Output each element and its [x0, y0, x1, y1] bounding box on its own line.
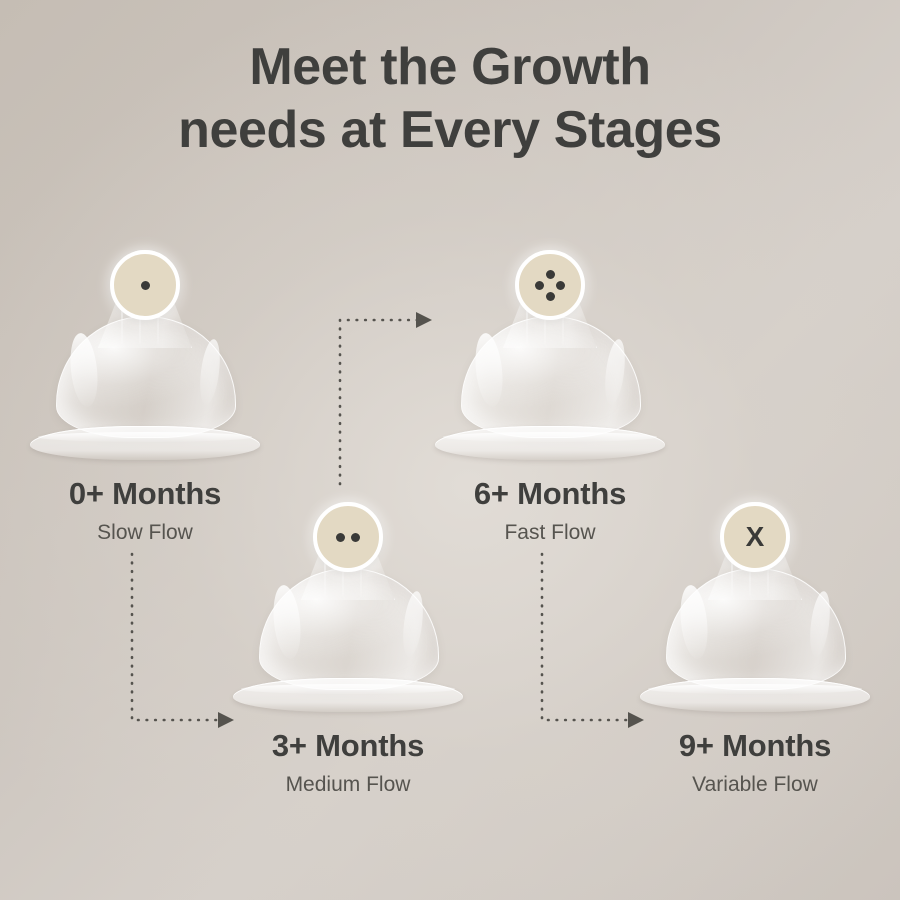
nipple-base-flange: [435, 426, 665, 460]
flow-badge-9-months[interactable]: X: [720, 502, 790, 572]
nipple-base-flange: [30, 426, 260, 460]
four-dots-icon: [533, 268, 567, 302]
flow-badge-6-months[interactable]: [515, 250, 585, 320]
nipple-base-flange: [640, 678, 870, 712]
nipple-base-flange: [233, 678, 463, 712]
stage-card-0-months[interactable]: 0+ Months Slow Flow: [0, 250, 290, 545]
product-illustration-9-months: X: [610, 502, 900, 712]
infographic-canvas: Meet the Growth needs at Every Stages: [0, 0, 900, 900]
nipple-bell: [461, 316, 641, 438]
nipple-bell: [259, 568, 439, 690]
product-illustration-0-months: [0, 250, 290, 460]
title-line-1: Meet the Growth: [0, 36, 900, 99]
flow-badge-3-months[interactable]: [313, 502, 383, 572]
product-illustration-6-months: [405, 250, 695, 460]
nipple-bell: [56, 316, 236, 438]
stage-card-3-months[interactable]: 3+ Months Medium Flow: [203, 502, 493, 797]
product-illustration-3-months: [203, 502, 493, 712]
flow-badge-0-months[interactable]: [110, 250, 180, 320]
stage-card-6-months[interactable]: 6+ Months Fast Flow: [405, 250, 695, 545]
stage-age-label: 3+ Months: [203, 728, 493, 764]
one-dot-icon: [128, 268, 162, 302]
cross-cut-x-icon: X: [746, 523, 765, 551]
stage-card-9-months[interactable]: X 9+ Months Variable Flow: [610, 502, 900, 797]
nipple-bell: [666, 568, 846, 690]
page-title: Meet the Growth needs at Every Stages: [0, 36, 900, 163]
stage-age-label: 9+ Months: [610, 728, 900, 764]
stage-flow-label: Variable Flow: [610, 773, 900, 797]
title-line-2: needs at Every Stages: [0, 99, 900, 162]
stage-flow-label: Medium Flow: [203, 773, 493, 797]
two-dots-icon: [331, 520, 365, 554]
